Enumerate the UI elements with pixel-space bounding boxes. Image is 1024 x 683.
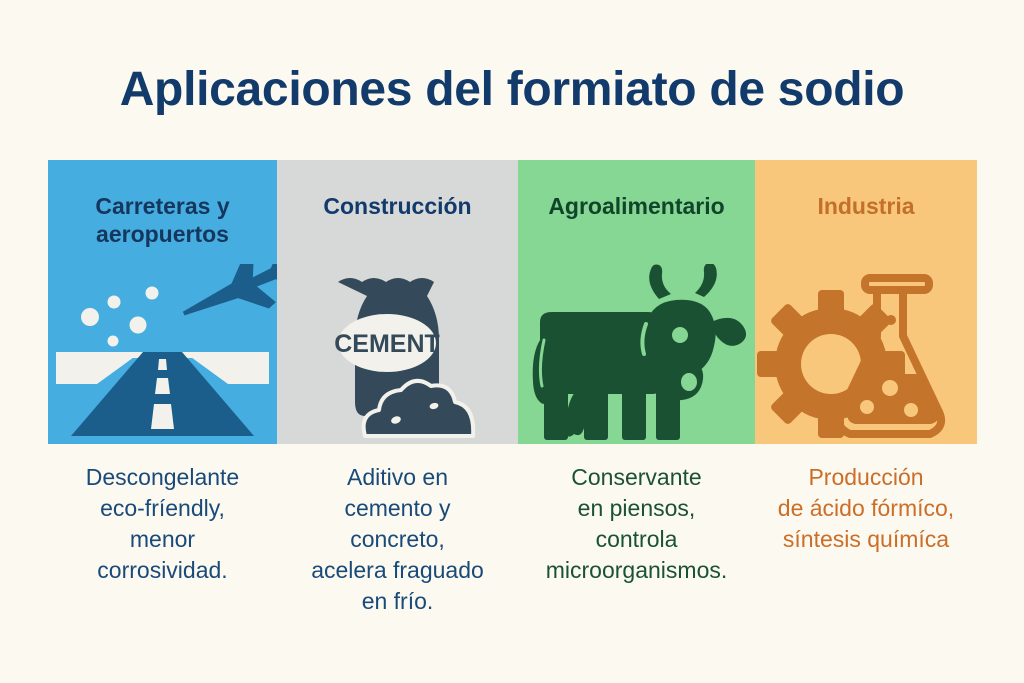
- caption-construccion: Aditivo en cemento y concreto, acelera f…: [277, 462, 518, 617]
- caption-agroalimentario: Conservante en piensos, controla microor…: [518, 462, 755, 586]
- cement-bag-label: CEMENT: [334, 330, 440, 358]
- page-title: Aplicaciones del formiato de sodio: [0, 62, 1024, 117]
- panel-heading-agroalimentario: Agroalimentario: [518, 192, 755, 220]
- panel-industria: Industria: [755, 160, 977, 444]
- gear-flask-icon: [755, 264, 977, 444]
- caption-carreteras: Descongelante eco-fríendly, menor corros…: [48, 462, 277, 586]
- cement-bag-icon: CEMENT: [277, 264, 518, 444]
- infographic-page: Aplicaciones del formiato de sodio Carre…: [0, 0, 1024, 683]
- caption-row: Descongelante eco-fríendly, menor corros…: [48, 462, 977, 617]
- panel-carreteras-aeropuertos: Carreteras y aeropuertos: [48, 160, 277, 444]
- panel-heading-industria: Industria: [755, 192, 977, 220]
- caption-industria: Producción de ácido fórmíco, síntesis qu…: [755, 462, 977, 555]
- panel-construccion: Construcción CEMENT: [277, 160, 518, 444]
- road-airplane-snow-icon: [48, 264, 277, 444]
- panel-agroalimentario: Agroalimentario: [518, 160, 755, 444]
- panel-heading-construccion: Construcción: [277, 192, 518, 220]
- cow-icon: [518, 264, 755, 444]
- panel-strip: Carreteras y aeropuertos: [48, 160, 977, 444]
- panel-heading-carreteras: Carreteras y aeropuertos: [48, 192, 277, 248]
